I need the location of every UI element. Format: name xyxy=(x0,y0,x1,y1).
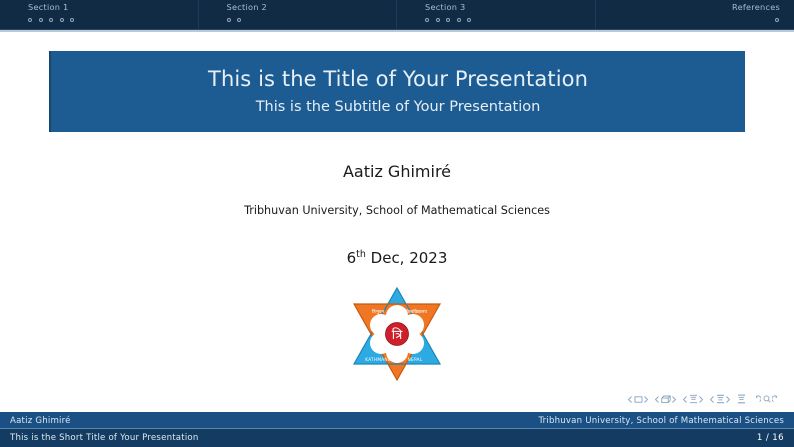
back-navigation-icon[interactable] xyxy=(753,395,761,403)
slide-navigation-group[interactable] xyxy=(628,395,648,404)
frame-navigation-group[interactable] xyxy=(655,395,676,404)
footer-top-bar: Aatiz Ghimiré Tribhuvan University, Scho… xyxy=(0,412,794,429)
next-frame-icon[interactable] xyxy=(672,396,676,403)
slide-dot-icon[interactable] xyxy=(436,18,440,22)
previous-section-icon[interactable] xyxy=(710,396,714,403)
slide-dot-icon[interactable] xyxy=(467,18,471,22)
nav-section-slide-dots[interactable] xyxy=(28,14,198,23)
navbar-underline-inner xyxy=(0,29,794,30)
logo-center-glyph: त्रि xyxy=(392,327,403,343)
presentation-date: 6th Dec, 2023 xyxy=(0,249,794,267)
document-navigation-group[interactable] xyxy=(737,394,746,404)
slide-dot-icon[interactable] xyxy=(28,18,32,22)
nav-section-3[interactable]: Section 3 xyxy=(397,0,596,29)
search-navigation-icon[interactable] xyxy=(763,395,771,403)
date-day: 6 xyxy=(347,249,357,267)
slide-dot-icon[interactable] xyxy=(775,18,779,22)
footer-short-title: This is the Short Title of Your Presenta… xyxy=(10,433,199,443)
previous-slide-icon[interactable] xyxy=(628,396,632,403)
nav-section-slide-dots[interactable] xyxy=(596,14,781,23)
section-navigation-group[interactable] xyxy=(710,394,730,404)
presentation-title: This is the Title of Your Presentation xyxy=(208,66,588,93)
date-rest: Dec, 2023 xyxy=(366,249,448,267)
footer-institute: Tribhuvan University, School of Mathemat… xyxy=(538,416,784,426)
logo-bottom-right-text: NEPAL xyxy=(408,357,423,362)
nav-section-2[interactable]: Section 2 xyxy=(199,0,398,29)
nav-section-slide-dots[interactable] xyxy=(227,14,397,23)
next-slide-icon[interactable] xyxy=(644,396,648,403)
slide-dot-icon[interactable] xyxy=(70,18,74,22)
subsection-navigation-icon[interactable] xyxy=(689,394,698,404)
nav-section-label: Section 1 xyxy=(28,2,198,13)
institute-name: Tribhuvan University, School of Mathemat… xyxy=(0,204,794,217)
logo-svg: त्रि त्रिभुवन विश्वविद्यालय KATHMANDU NE… xyxy=(347,284,447,384)
footer-bottom-bar: This is the Short Title of Your Presenta… xyxy=(0,429,794,447)
footer-page-number: 1 / 16 xyxy=(757,433,784,443)
date-ordinal-suffix: th xyxy=(356,249,366,260)
next-subsection-icon[interactable] xyxy=(699,396,703,403)
slide-dot-icon[interactable] xyxy=(457,18,461,22)
previous-subsection-icon[interactable] xyxy=(683,396,687,403)
nav-section-references[interactable]: References xyxy=(596,0,794,29)
slide-dot-icon[interactable] xyxy=(425,18,429,22)
footer-author: Aatiz Ghimiré xyxy=(10,416,71,426)
author-name: Aatiz Ghimiré xyxy=(0,162,794,181)
nav-section-1[interactable]: Section 1 xyxy=(0,0,199,29)
slide-dot-icon[interactable] xyxy=(237,18,241,22)
nav-section-label: References xyxy=(596,2,781,13)
section-navigation-bar: Section 1 Section 2 Section 3 References xyxy=(0,0,794,29)
beamer-navigation-symbols[interactable] xyxy=(628,392,780,406)
nav-section-label: Section 2 xyxy=(227,2,397,13)
section-navigation-icon[interactable] xyxy=(716,394,725,404)
slide-dot-icon[interactable] xyxy=(446,18,450,22)
slide-dot-icon[interactable] xyxy=(227,18,231,22)
slide-dot-icon[interactable] xyxy=(60,18,64,22)
nav-section-slide-dots[interactable] xyxy=(425,14,595,23)
previous-frame-icon[interactable] xyxy=(655,396,659,403)
next-section-icon[interactable] xyxy=(726,396,730,403)
presentation-subtitle: This is the Subtitle of Your Presentatio… xyxy=(256,96,541,118)
logo-bottom-left-text: KATHMANDU xyxy=(365,357,395,362)
nav-section-label: Section 3 xyxy=(425,2,595,13)
title-block: This is the Title of Your Presentation T… xyxy=(49,51,745,132)
slide-dot-icon[interactable] xyxy=(39,18,43,22)
subsection-navigation-group[interactable] xyxy=(683,394,703,404)
logo-top-left-text: त्रिभुवन xyxy=(372,308,385,315)
frame-navigation-icon[interactable] xyxy=(661,395,671,404)
slide-dot-icon[interactable] xyxy=(49,18,53,22)
back-search-forward-group[interactable] xyxy=(753,395,780,403)
forward-navigation-icon[interactable] xyxy=(772,395,780,403)
tribhuvan-university-logo: त्रि त्रिभुवन विश्वविद्यालय KATHMANDU NE… xyxy=(347,284,447,384)
document-navigation-icon[interactable] xyxy=(737,394,746,404)
logo-top-right-text: विश्वविद्यालय xyxy=(405,308,427,315)
slide-navigation-icon[interactable] xyxy=(634,395,643,404)
